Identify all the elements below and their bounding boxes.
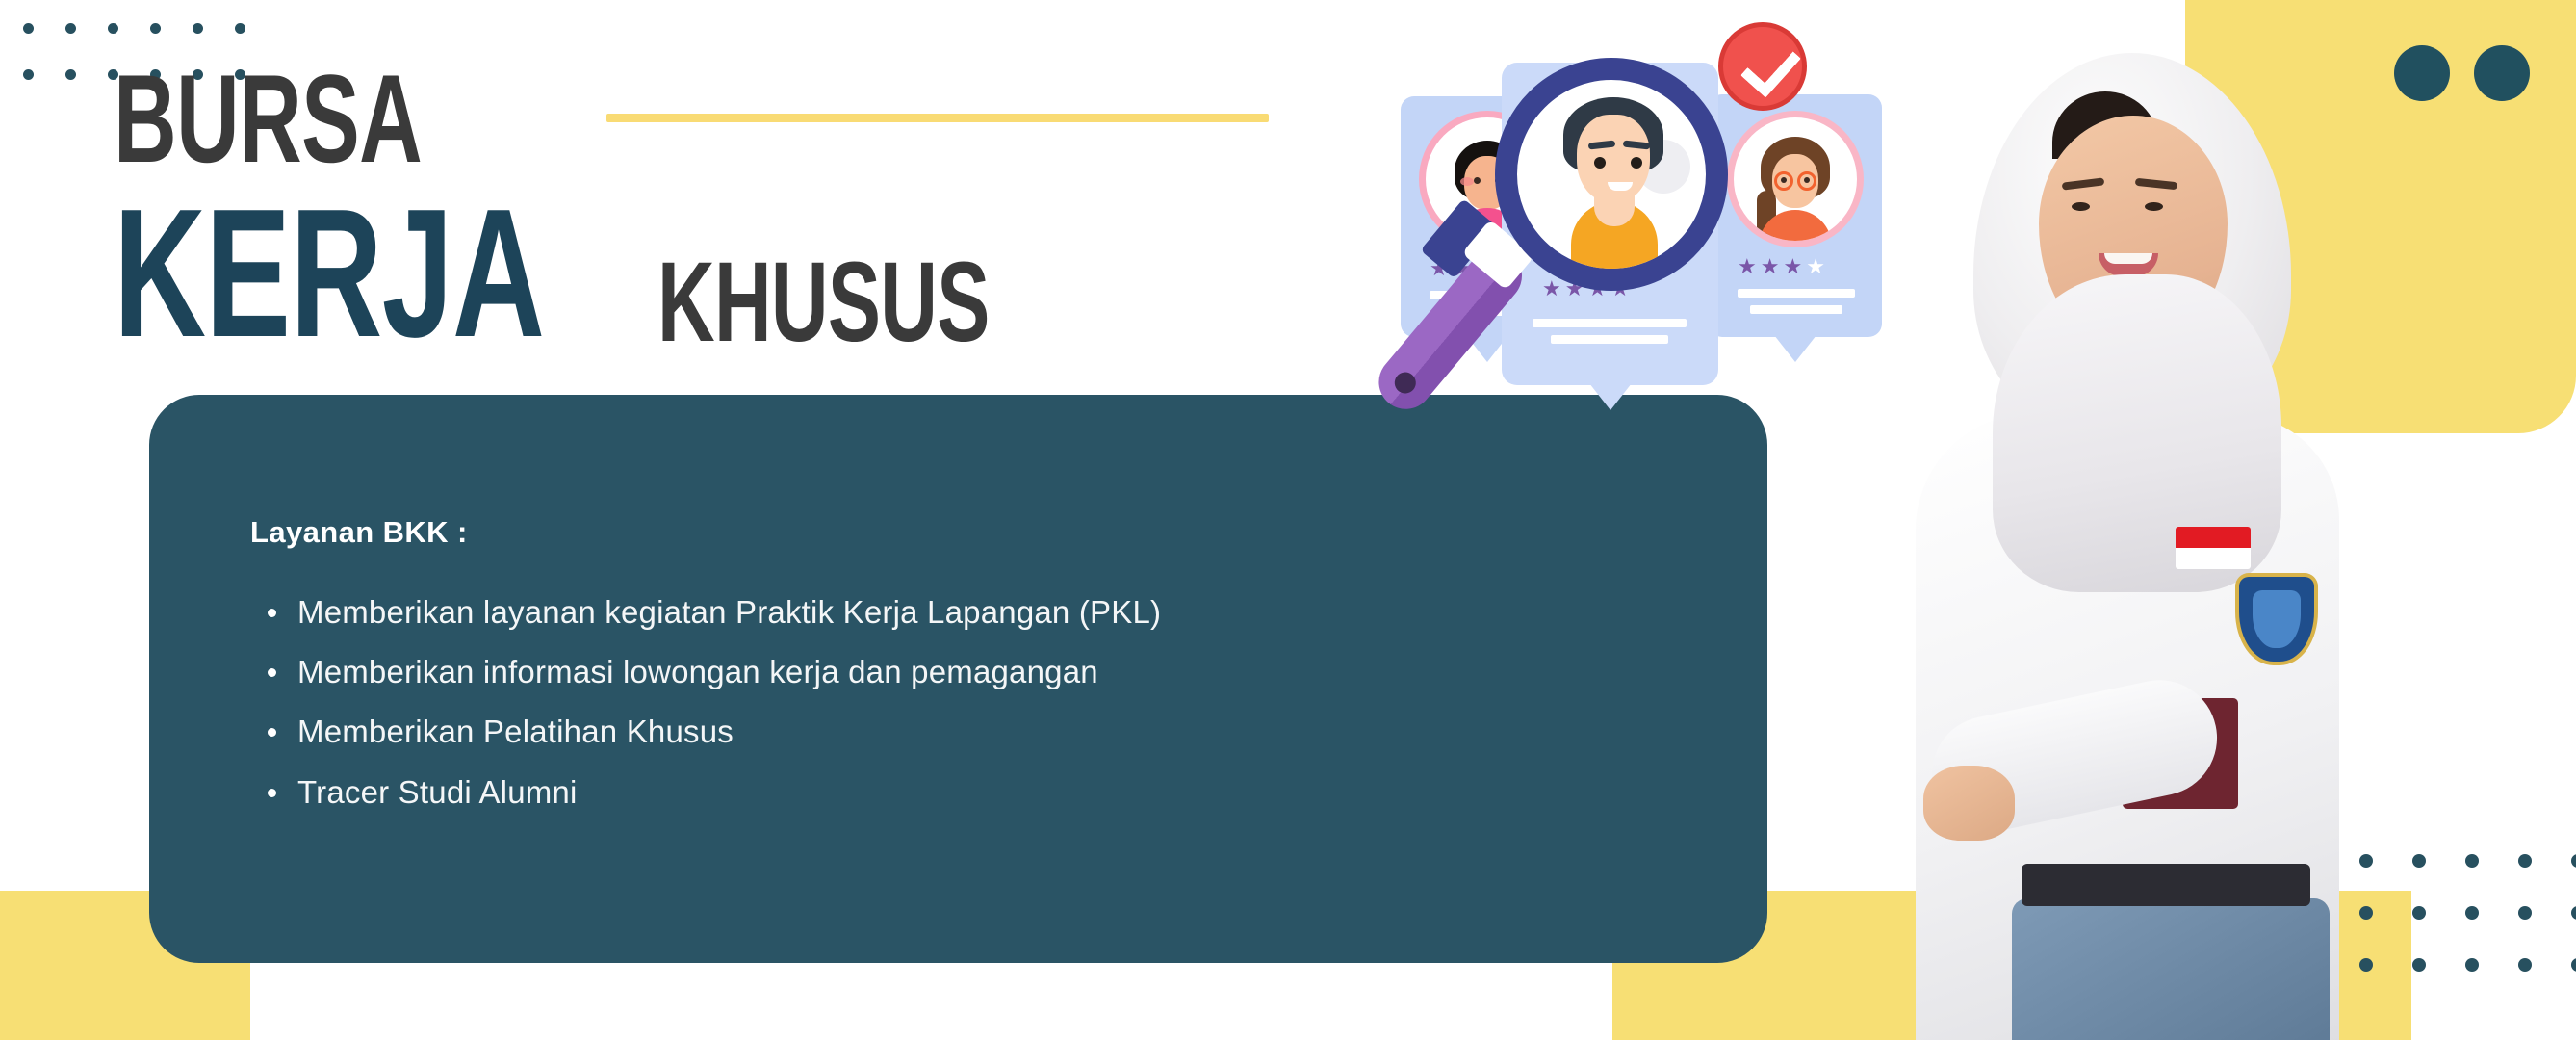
bullet-icon bbox=[268, 789, 276, 797]
services-list: Memberikan layanan kegiatan Praktik Kerj… bbox=[250, 592, 1710, 813]
magnifying-glass-icon bbox=[1495, 58, 1728, 291]
list-item: Memberikan layanan kegiatan Praktik Kerj… bbox=[250, 592, 1710, 633]
services-card: Layanan BKK : Memberikan layanan kegiata… bbox=[149, 395, 1767, 963]
list-item-label: Memberikan layanan kegiatan Praktik Kerj… bbox=[297, 592, 1161, 633]
headline-line-1: BURSA bbox=[114, 67, 422, 170]
decorative-circle-2 bbox=[2474, 45, 2530, 101]
bullet-icon bbox=[268, 668, 276, 677]
card-text-lines-center bbox=[1533, 319, 1687, 344]
indonesia-flag-patch bbox=[2176, 527, 2251, 569]
card-text-lines-right bbox=[1738, 289, 1855, 314]
banner-root: BURSA KERJA KHUSUS ★★★★ bbox=[0, 0, 2576, 1040]
profile-card-right: ★★★★ bbox=[1709, 94, 1882, 337]
headline-line-2-primary: KERJA bbox=[114, 199, 544, 350]
avatar-right bbox=[1734, 117, 1857, 241]
bullet-icon bbox=[268, 728, 276, 737]
list-item: Memberikan Pelatihan Khusus bbox=[250, 712, 1710, 752]
list-item-label: Memberikan informasi lowongan kerja dan … bbox=[297, 652, 1098, 692]
headline-line-2-secondary: KHUSUS bbox=[657, 256, 990, 350]
student-portrait bbox=[1887, 34, 2349, 1040]
list-item-label: Tracer Studi Alumni bbox=[297, 772, 578, 813]
page-title: BURSA KERJA KHUSUS bbox=[114, 67, 1131, 349]
list-item: Memberikan informasi lowongan kerja dan … bbox=[250, 652, 1710, 692]
rating-stars-right: ★★★★ bbox=[1738, 256, 1825, 277]
list-item: Tracer Studi Alumni bbox=[250, 772, 1710, 813]
check-circle-icon bbox=[1718, 22, 1807, 111]
decorative-circle-1 bbox=[2394, 45, 2450, 101]
list-item-label: Memberikan Pelatihan Khusus bbox=[297, 712, 734, 752]
services-card-title: Layanan BKK : bbox=[250, 515, 1710, 550]
bullet-icon bbox=[268, 609, 276, 617]
